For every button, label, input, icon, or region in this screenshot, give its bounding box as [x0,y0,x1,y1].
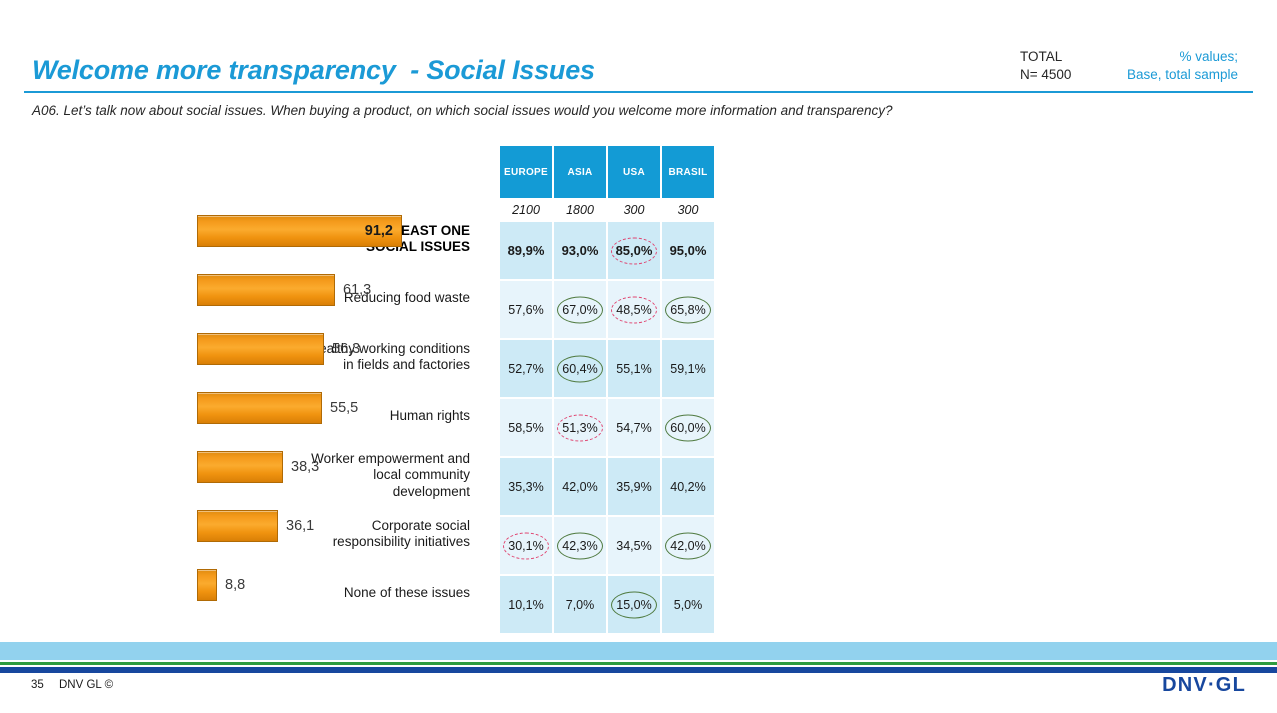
table-cell: 15,0% [608,576,660,633]
chart-bar-value: 38,3 [291,459,319,475]
table-cell: 85,0% [608,222,660,279]
values-note-line1: % values; [1108,48,1238,66]
question-text: A06. Let’s talk now about social issues.… [32,102,922,120]
table-cell: 60,4% [554,340,606,397]
table-base-value: 300 [608,200,660,220]
table-cell-value: 40,2% [670,480,705,494]
chart-bar [197,274,335,306]
chart-bar-wrapper: 56,3 [197,333,324,365]
chart-bar-value: 61,3 [343,282,371,298]
chart-bar: 91,2 [197,215,402,247]
table-cell-value: 42,0% [562,480,597,494]
chart-row: Corporate socialresponsibility initiativ… [0,510,470,569]
table-cell: 54,7% [608,399,660,456]
table-column-header-brasil[interactable]: BRASIL [662,146,714,198]
table-cell: 10,1% [500,576,552,633]
table-cell-value: 95,0% [670,243,707,258]
table-cell: 40,2% [662,458,714,515]
table-cell: 42,3% [554,517,606,574]
chart-row: None of these issues8,8 [0,569,470,628]
table-cell-value: 60,4% [562,362,597,376]
table-cell: 51,3% [554,399,606,456]
table-column-header-europe[interactable]: EUROPE [500,146,552,198]
table-cell: 35,3% [500,458,552,515]
table-cell-value: 57,6% [508,303,543,317]
table-cell: 30,1% [500,517,552,574]
chart-bar-wrapper: 36,1 [197,510,278,542]
footer-band-navy [0,667,1277,673]
regional-table: EUROPEASIAUSABRASIL 21001800300300 89,9%… [500,146,714,635]
chart-row: Worker empowerment andlocal communitydev… [0,451,470,510]
chart-bar-value: 91,2 [365,223,393,239]
table-cell: 57,6% [500,281,552,338]
table-row: 10,1%7,0%15,0%5,0% [500,576,714,633]
dnv-gl-logo: DNV·GL [1162,674,1246,697]
table-cell: 5,0% [662,576,714,633]
chart-bar-wrapper: 61,3 [197,274,335,306]
table-cell: 59,1% [662,340,714,397]
table-cell-value: 35,3% [508,480,543,494]
chart-bar-value: 36,1 [286,518,314,534]
table-cell-value: 93,0% [562,243,599,258]
table-cell: 89,9% [500,222,552,279]
table-cell-value: 42,0% [670,539,705,553]
table-cell-value: 59,1% [670,362,705,376]
table-column-header-asia[interactable]: ASIA [554,146,606,198]
table-cell-value: 15,0% [616,598,651,612]
table-cell: 93,0% [554,222,606,279]
table-cell-value: 7,0% [566,598,595,612]
chart-bar-wrapper: 55,5 [197,392,322,424]
table-cell: 65,8% [662,281,714,338]
chart-category-label: None of these issues [278,585,470,602]
chart-bar [197,569,217,601]
table-cell-value: 55,1% [616,362,651,376]
table-cell-value: 42,3% [562,539,597,553]
table-cell-value: 89,9% [508,243,545,258]
bar-chart: NET: AT LEAST ONESOCIAL ISSUES91,2Reduci… [0,215,470,628]
chart-row: Healthy working conditionsin fields and … [0,333,470,392]
table-cell-value: 48,5% [616,303,651,317]
table-cell: 58,5% [500,399,552,456]
table-cell: 48,5% [608,281,660,338]
table-cell: 7,0% [554,576,606,633]
table-row: 89,9%93,0%85,0%95,0% [500,222,714,279]
chart-bar-wrapper: 8,8 [197,569,217,601]
slide: Welcome more transparency - Social Issue… [0,0,1277,713]
table-cell-value: 67,0% [562,303,597,317]
chart-bar [197,451,283,483]
table-cell-value: 54,7% [616,421,651,435]
chart-bar [197,510,278,542]
table-cell: 42,0% [662,517,714,574]
total-label: TOTAL [1020,48,1071,66]
table-row: 30,1%42,3%34,5%42,0% [500,517,714,574]
table-base-value: 300 [662,200,714,220]
table-header-row: EUROPEASIAUSABRASIL [500,146,714,198]
page-number: 35 [31,679,44,691]
chart-bar-value: 8,8 [225,577,245,593]
table-cell-value: 5,0% [674,598,703,612]
table-cell-value: 51,3% [562,421,597,435]
table-base-row: 21001800300300 [500,200,714,220]
chart-bar [197,333,324,365]
footer-band-blue [0,642,1277,660]
table-cell: 60,0% [662,399,714,456]
table-cell-value: 30,1% [508,539,543,553]
chart-row: Human rights55,5 [0,392,470,451]
table-cell-value: 10,1% [508,598,543,612]
table-cell-value: 34,5% [616,539,651,553]
chart-bar-wrapper: 38,3 [197,451,283,483]
table-cell: 35,9% [608,458,660,515]
chart-category-label: Worker empowerment andlocal communitydev… [278,451,470,501]
table-row: 35,3%42,0%35,9%40,2% [500,458,714,515]
table-row: 57,6%67,0%48,5%65,8% [500,281,714,338]
chart-row: Reducing food waste61,3 [0,274,470,333]
table-cell-value: 85,0% [616,243,653,258]
values-note: % values; Base, total sample [1108,48,1238,84]
chart-row: NET: AT LEAST ONESOCIAL ISSUES91,2 [0,215,470,274]
table-cell-value: 58,5% [508,421,543,435]
chart-bar-value: 56,3 [332,341,360,357]
table-cell: 34,5% [608,517,660,574]
table-cell: 95,0% [662,222,714,279]
table-body: 89,9%93,0%85,0%95,0%57,6%67,0%48,5%65,8%… [500,222,714,633]
page-title: Welcome more transparency - Social Issue… [32,55,595,86]
total-base-info: TOTAL N= 4500 [1020,48,1071,84]
chart-bar [197,392,322,424]
table-column-header-usa[interactable]: USA [608,146,660,198]
table-cell-value: 52,7% [508,362,543,376]
table-cell: 52,7% [500,340,552,397]
title-divider [24,91,1253,93]
chart-bar-wrapper: 91,2 [197,215,402,247]
table-cell-value: 60,0% [670,421,705,435]
table-base-value: 1800 [554,200,606,220]
table-row: 52,7%60,4%55,1%59,1% [500,340,714,397]
table-cell-value: 65,8% [670,303,705,317]
table-cell: 67,0% [554,281,606,338]
table-row: 58,5%51,3%54,7%60,0% [500,399,714,456]
copyright-text: DNV GL © [59,679,113,691]
values-note-line2: Base, total sample [1108,66,1238,84]
table-base-value: 2100 [500,200,552,220]
table-cell-value: 35,9% [616,480,651,494]
total-n-value: N= 4500 [1020,66,1071,84]
table-cell: 42,0% [554,458,606,515]
chart-bar-value: 55,5 [330,400,358,416]
table-cell: 55,1% [608,340,660,397]
